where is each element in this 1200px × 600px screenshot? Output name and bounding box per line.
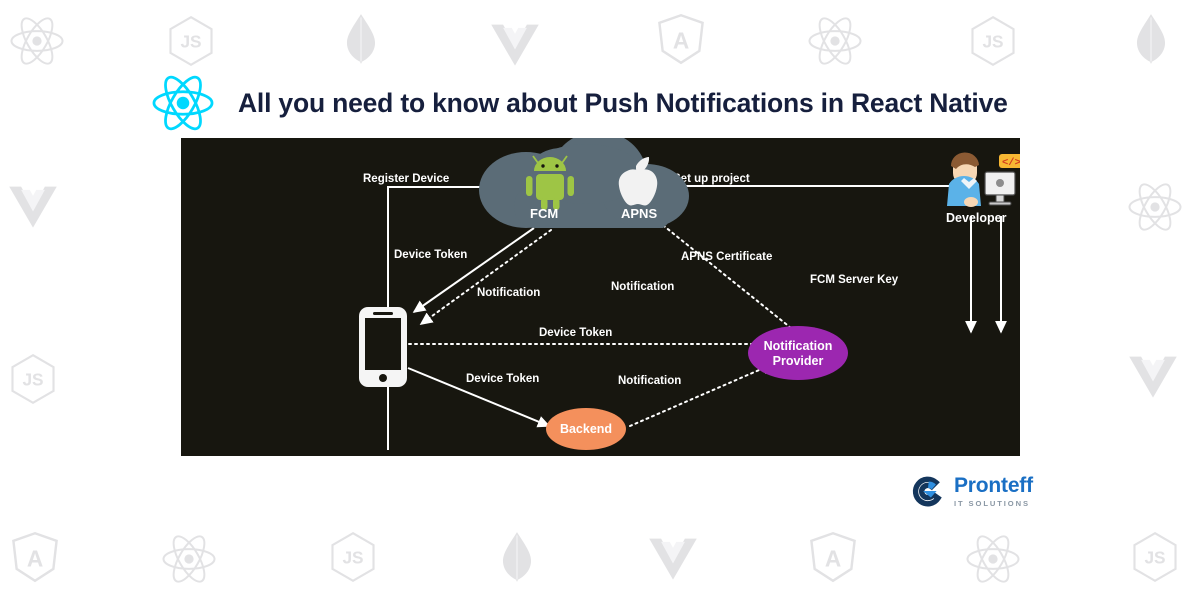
vue-v-icon bbox=[1126, 348, 1180, 402]
pronteff-brand-logo: Pronteff IT SOLUTIONS bbox=[910, 473, 1033, 509]
node-label-developer: Developer bbox=[946, 211, 1007, 225]
cloud-label-fcm: FCM bbox=[530, 206, 558, 221]
svg-text:JS: JS bbox=[982, 31, 1003, 51]
notification-provider-shape bbox=[748, 326, 848, 380]
vue-v-icon bbox=[646, 530, 700, 584]
edge-notification-provider-cloud bbox=[649, 214, 791, 328]
vue-v-icon bbox=[488, 16, 542, 70]
mongodb-leaf-icon bbox=[1124, 12, 1178, 66]
diagram-edges bbox=[388, 186, 1001, 450]
edge-label-notification-cloud: Notification bbox=[477, 287, 540, 299]
pronteff-brand-name: Pronteff bbox=[954, 475, 1033, 496]
nodejs-js-icon: JS bbox=[326, 530, 380, 584]
node-backend[interactable]: Backend bbox=[546, 408, 626, 450]
node-label-notification-provider-line2: Provider bbox=[773, 354, 824, 368]
architecture-diagram: Register Device Set up project Device To… bbox=[181, 138, 1020, 456]
angular-a-icon: A bbox=[654, 12, 708, 66]
vue-v-icon bbox=[6, 178, 60, 232]
nodejs-js-icon: JS bbox=[164, 14, 218, 68]
svg-text:JS: JS bbox=[1144, 547, 1165, 567]
node-mobile-phone[interactable] bbox=[359, 307, 407, 387]
developer-workstation-icon: </> bbox=[947, 152, 1020, 207]
nodejs-js-icon: JS bbox=[6, 352, 60, 406]
angular-a-icon: A bbox=[806, 530, 860, 584]
nodejs-js-icon: JS bbox=[966, 14, 1020, 68]
edge-label-notification-backend-provider: Notification bbox=[618, 375, 681, 387]
edge-label-notification-provider-cloud: Notification bbox=[611, 281, 674, 293]
edge-label-device-token-provider: Device Token bbox=[539, 327, 612, 339]
mongodb-leaf-icon bbox=[334, 12, 388, 66]
edge-label-register-device: Register Device bbox=[363, 173, 449, 185]
svg-text:</>: </> bbox=[1002, 157, 1020, 169]
nodejs-js-icon: JS bbox=[1128, 530, 1182, 584]
edge-label-device-token-cloud: Device Token bbox=[394, 249, 467, 261]
node-notification-provider[interactable]: Notification Provider bbox=[748, 326, 848, 380]
svg-text:A: A bbox=[673, 28, 689, 54]
pronteff-brand-tagline: IT SOLUTIONS bbox=[954, 500, 1033, 508]
react-atom-icon bbox=[806, 12, 864, 70]
page-header: All you need to know about Push Notifica… bbox=[150, 70, 1008, 136]
react-atom-icon bbox=[964, 530, 1022, 588]
edge-device-token-cloud bbox=[414, 228, 534, 312]
pronteff-mark-icon bbox=[910, 473, 946, 509]
edge-label-device-token-backend: Device Token bbox=[466, 373, 539, 385]
page-root: JSAJSJSAJSAJS All you need to know about… bbox=[0, 0, 1200, 600]
node-cloud-fcm-apns[interactable]: FCM APNS bbox=[479, 138, 689, 228]
node-label-notification-provider-line1: Notification bbox=[764, 339, 833, 353]
edge-label-fcm-server-key: FCM Server Key bbox=[810, 274, 899, 286]
react-atom-icon bbox=[150, 70, 216, 136]
edge-notification-cloud bbox=[421, 230, 551, 324]
architecture-diagram-panel: Register Device Set up project Device To… bbox=[181, 138, 1020, 456]
svg-text:JS: JS bbox=[22, 369, 43, 389]
cloud-label-apns: APNS bbox=[621, 206, 657, 221]
page-title: All you need to know about Push Notifica… bbox=[238, 88, 1008, 119]
react-atom-icon bbox=[1126, 178, 1184, 236]
angular-a-icon: A bbox=[8, 530, 62, 584]
mongodb-leaf-icon bbox=[490, 530, 544, 584]
node-developer[interactable]: </> Developer bbox=[946, 152, 1020, 225]
react-atom-icon bbox=[8, 12, 66, 70]
svg-text:A: A bbox=[27, 546, 43, 572]
edge-label-apns-certificate: APNS Certificate bbox=[681, 251, 772, 263]
svg-text:A: A bbox=[825, 546, 841, 572]
react-atom-icon bbox=[160, 530, 218, 588]
svg-text:JS: JS bbox=[342, 547, 363, 567]
edge-notification-backend-provider bbox=[630, 364, 773, 426]
node-label-backend: Backend bbox=[560, 422, 612, 436]
svg-text:JS: JS bbox=[180, 31, 201, 51]
